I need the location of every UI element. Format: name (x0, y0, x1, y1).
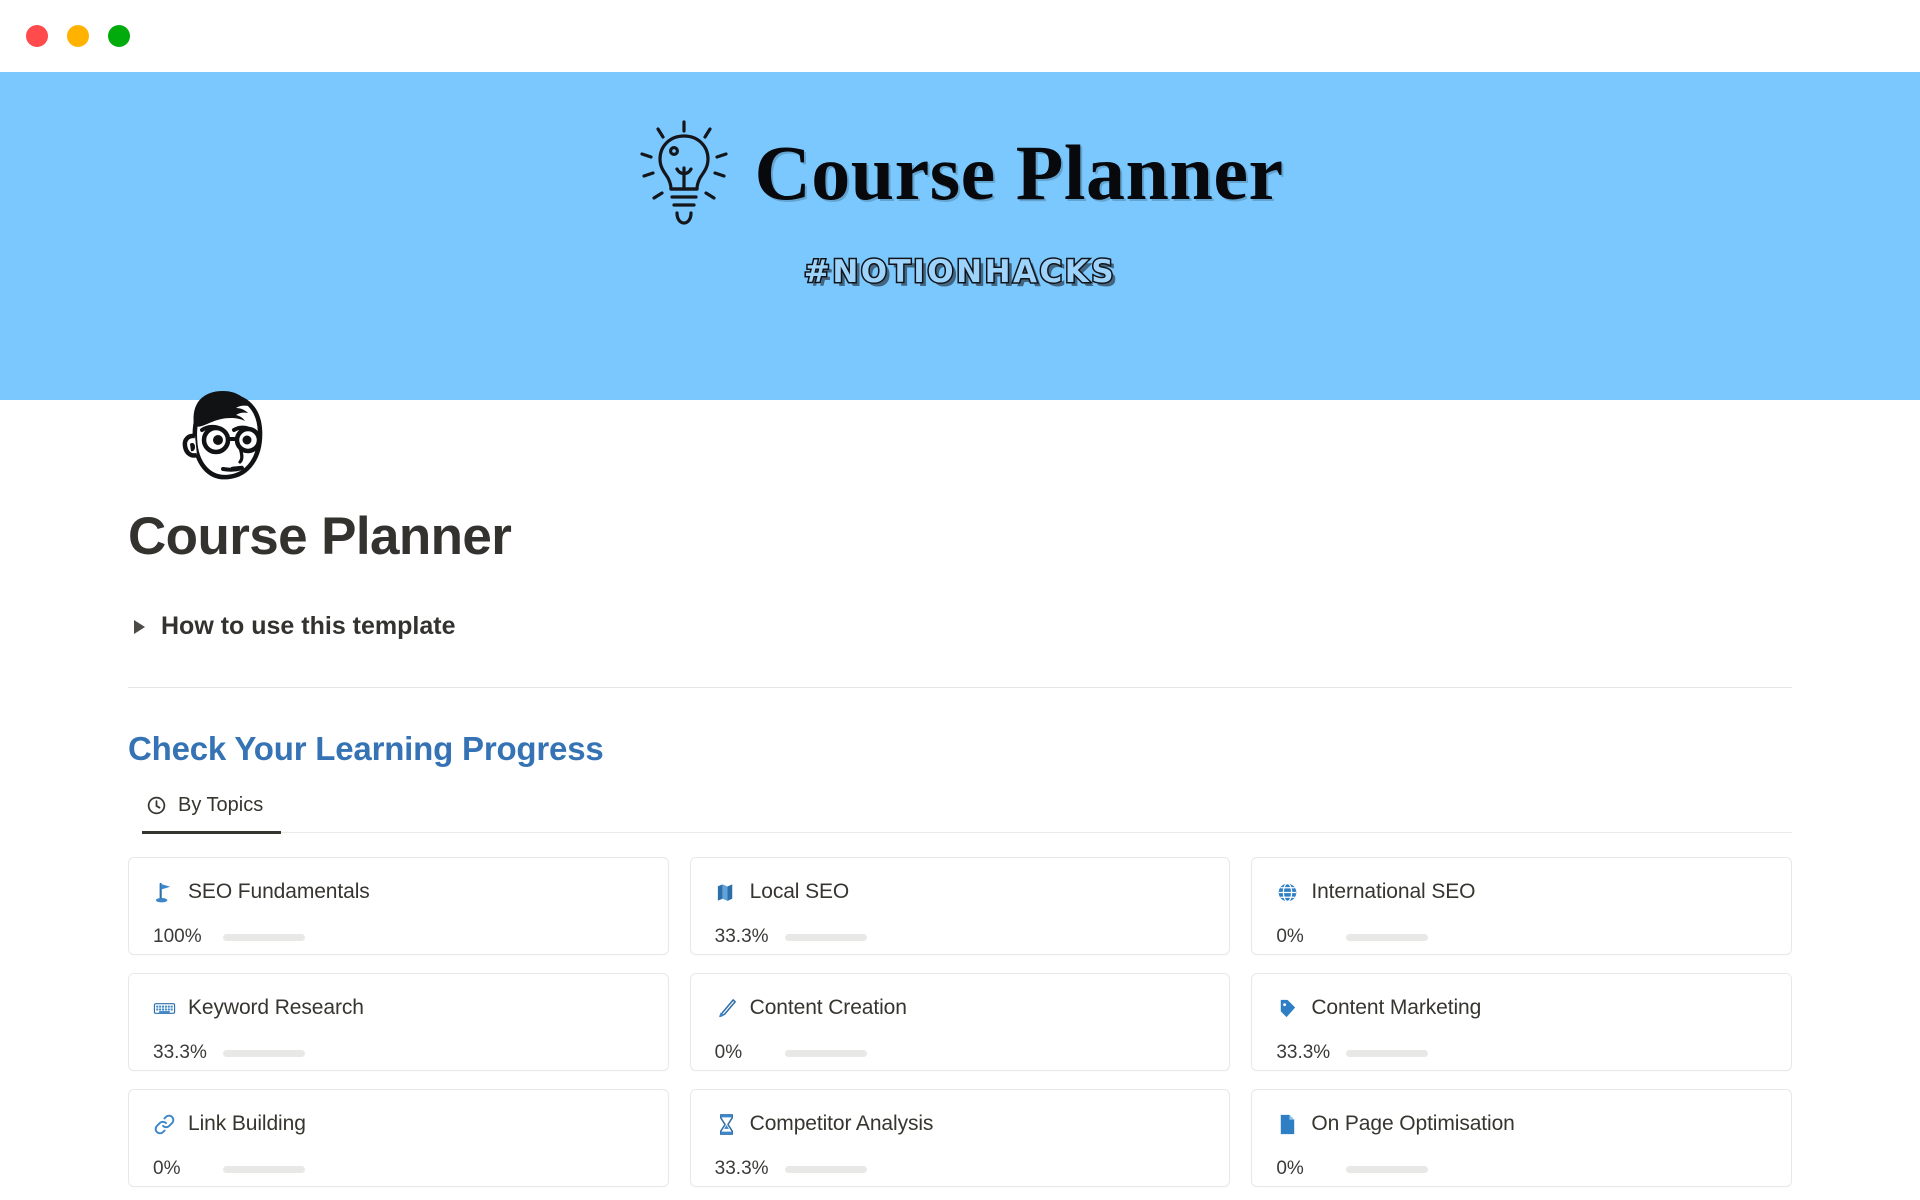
topic-card-header: Keyword Research (153, 996, 644, 1020)
topic-card-percent: 0% (1276, 1158, 1332, 1180)
topic-card-title: Link Building (188, 1112, 306, 1136)
topic-card-title: International SEO (1311, 880, 1475, 904)
topic-card-keyword-research[interactable]: Keyword Research 33.3% (128, 973, 669, 1071)
progress-bar-track (785, 934, 867, 941)
topic-card-header: Competitor Analysis (715, 1112, 1206, 1136)
topic-card-progress: 0% (1276, 1158, 1767, 1180)
page-icon (1276, 1113, 1299, 1136)
window-titlebar (0, 0, 1920, 72)
tag-icon (1276, 997, 1299, 1020)
topic-card-progress: 33.3% (1276, 1042, 1767, 1064)
view-tabs-bar: By Topics (142, 790, 1792, 833)
topic-card-header: SEO Fundamentals (153, 880, 644, 904)
topic-card-title: Content Marketing (1311, 996, 1481, 1020)
golf-flag-icon (153, 881, 176, 904)
progress-bar-track (223, 934, 305, 941)
topic-card-progress: 100% (153, 926, 644, 948)
topic-card-competitor-analysis[interactable]: Competitor Analysis 33.3% (690, 1089, 1231, 1187)
topic-card-on-page-optimisation[interactable]: On Page Optimisation 0% (1251, 1089, 1792, 1187)
banner-logo-row: Course Planner (636, 114, 1283, 232)
close-window-button[interactable] (26, 25, 48, 47)
progress-bar-track (223, 1166, 305, 1173)
topic-card-international-seo[interactable]: International SEO 0% (1251, 857, 1792, 955)
progress-bar-track (1346, 1166, 1428, 1173)
keyboard-icon (153, 997, 176, 1020)
topic-card-title: SEO Fundamentals (188, 880, 370, 904)
topic-card-progress: 0% (1276, 926, 1767, 948)
progress-bar-track (1346, 1050, 1428, 1057)
section-divider (128, 687, 1792, 688)
topic-card-header: On Page Optimisation (1276, 1112, 1767, 1136)
topic-card-percent: 100% (153, 926, 209, 948)
topic-card-percent: 33.3% (715, 1158, 771, 1180)
topic-card-progress: 33.3% (153, 1042, 644, 1064)
progress-bar-track (785, 1050, 867, 1057)
globe-icon (1276, 881, 1299, 904)
topic-card-title: Content Creation (750, 996, 907, 1020)
topic-card-title: Competitor Analysis (750, 1112, 934, 1136)
topic-card-title: On Page Optimisation (1311, 1112, 1514, 1136)
link-icon (153, 1113, 176, 1136)
learning-progress-heading: Check Your Learning Progress (128, 730, 1792, 768)
topic-card-seo-fundamentals[interactable]: SEO Fundamentals 100% (128, 857, 669, 955)
caret-right-icon[interactable] (134, 620, 145, 634)
page-avatar-icon[interactable] (160, 378, 284, 502)
topic-card-content-creation[interactable]: Content Creation 0% (690, 973, 1231, 1071)
topic-card-percent: 33.3% (1276, 1042, 1332, 1064)
tab-by-topics[interactable]: By Topics (142, 790, 281, 834)
page-content: Course Planner How to use this template … (0, 508, 1920, 1200)
topic-card-percent: 0% (153, 1158, 209, 1180)
how-to-use-toggle-label: How to use this template (161, 612, 455, 641)
topic-card-header: Content Creation (715, 996, 1206, 1020)
topic-card-percent: 33.3% (153, 1042, 209, 1064)
progress-bar-track (1346, 934, 1428, 941)
hourglass-icon (715, 1113, 738, 1136)
pen-icon (715, 997, 738, 1020)
topic-card-content-marketing[interactable]: Content Marketing 33.3% (1251, 973, 1792, 1071)
progress-bar-track (223, 1050, 305, 1057)
clock-icon (146, 795, 167, 816)
how-to-use-toggle[interactable]: How to use this template (128, 612, 1792, 641)
topic-card-progress: 33.3% (715, 1158, 1206, 1180)
topic-card-title: Local SEO (750, 880, 850, 904)
topic-card-progress: 33.3% (715, 926, 1206, 948)
progress-bar-track (785, 1166, 867, 1173)
maximize-window-button[interactable] (108, 25, 130, 47)
topic-card-progress: 0% (153, 1158, 644, 1180)
topic-card-local-seo[interactable]: Local SEO 33.3% (690, 857, 1231, 955)
topic-card-header: Content Marketing (1276, 996, 1767, 1020)
window-traffic-lights (26, 25, 130, 47)
topic-cards-grid: SEO Fundamentals 100% Local SEO (128, 857, 1792, 1200)
banner-subtitle: #NOTIONHACKS (804, 254, 1116, 290)
topic-card-header: Local SEO (715, 880, 1206, 904)
tab-by-topics-label: By Topics (178, 794, 263, 817)
lightbulb-icon (636, 114, 732, 232)
topic-card-link-building[interactable]: Link Building 0% (128, 1089, 669, 1187)
topic-card-title: Keyword Research (188, 996, 364, 1020)
banner-title: Course Planner (754, 134, 1283, 212)
topic-card-percent: 33.3% (715, 926, 771, 948)
map-icon (715, 881, 738, 904)
minimize-window-button[interactable] (67, 25, 89, 47)
page-cover-banner: Course Planner #NOTIONHACKS (0, 72, 1920, 400)
topic-card-percent: 0% (715, 1042, 771, 1064)
topic-card-progress: 0% (715, 1042, 1206, 1064)
topic-card-header: International SEO (1276, 880, 1767, 904)
topic-card-header: Link Building (153, 1112, 644, 1136)
topic-card-percent: 0% (1276, 926, 1332, 948)
page-title: Course Planner (128, 508, 1792, 566)
